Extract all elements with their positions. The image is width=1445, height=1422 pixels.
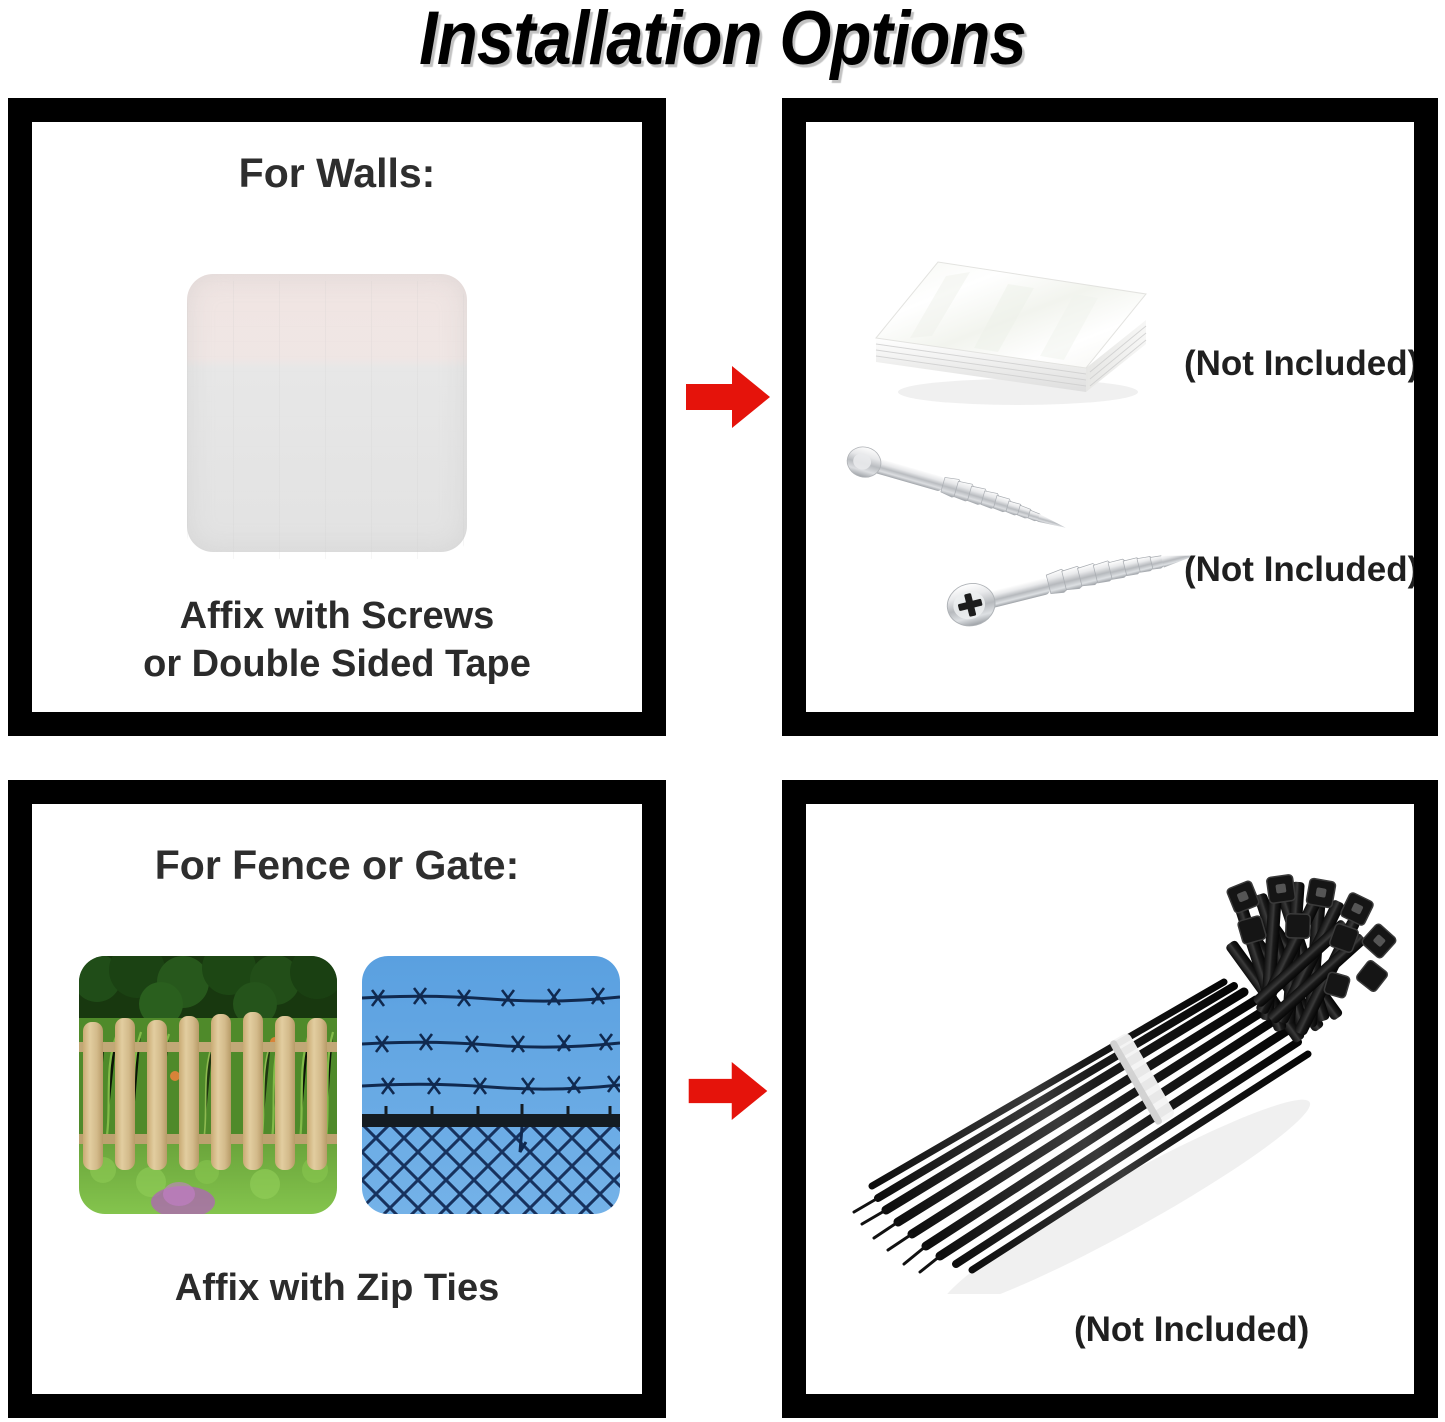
- black-zip-ties-bundle-image: [826, 874, 1414, 1294]
- heading-for-walls: For Walls:: [32, 150, 642, 197]
- caption-walls-line2: or Double Sided Tape: [32, 640, 642, 689]
- caption-walls-line1: Affix with Screws: [32, 592, 642, 641]
- panel-for-fence-content: For Fence or Gate:: [32, 804, 642, 1394]
- panel-wall-hardware-content: (Not Included): [806, 122, 1414, 712]
- page-title: Installation Options: [87, 0, 1359, 81]
- brick-texture-overlay: [187, 281, 467, 559]
- panel-wall-hardware: (Not Included): [782, 98, 1438, 736]
- caption-fence-line1: Affix with Zip Ties: [32, 1264, 642, 1313]
- label-zipties-not-included: (Not Included): [1074, 1310, 1309, 1350]
- panel-for-fence-or-gate: For Fence or Gate:: [8, 780, 666, 1418]
- white-brick-wall-image: [187, 274, 467, 552]
- heading-for-fence-or-gate: For Fence or Gate:: [32, 842, 642, 889]
- arrow-walls-to-hardware-icon: [686, 366, 770, 433]
- label-tape-not-included: (Not Included): [1184, 344, 1414, 384]
- double-sided-tape-stack-image: [858, 240, 1158, 420]
- panel-for-walls: For Walls: Affix with Screws or Double S…: [8, 98, 666, 736]
- panel-for-walls-content: For Walls: Affix with Screws or Double S…: [32, 122, 642, 712]
- panel-fence-hardware: (Not Included): [782, 780, 1438, 1418]
- panel-fence-hardware-content: (Not Included): [806, 804, 1414, 1394]
- chain-link-barbed-wire-fence-image: [362, 956, 620, 1214]
- wooden-picket-fence-image: [79, 956, 337, 1214]
- label-screws-not-included: (Not Included): [1184, 550, 1414, 590]
- arrow-fence-to-hardware-icon: [688, 1062, 768, 1125]
